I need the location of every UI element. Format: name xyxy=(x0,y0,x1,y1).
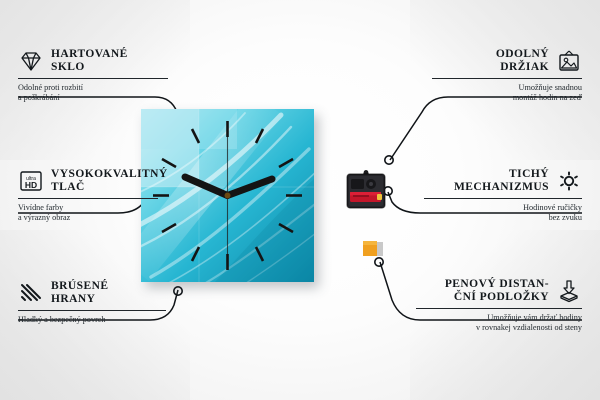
feature-title-line: VYSOKOKVALITNÝ xyxy=(51,168,168,181)
feature-divider xyxy=(18,78,168,79)
feature-header: BRÚSENÉ HRANY xyxy=(18,280,166,305)
clock-hands xyxy=(141,109,314,282)
feature-header: PENOVÝ DISTAN- ČNÍ PODLOŽKY xyxy=(416,278,582,303)
clock-center-cap xyxy=(225,193,231,199)
foam-distance-pad xyxy=(362,240,384,260)
feature-title-line: ČNÍ PODLOŽKY xyxy=(445,291,549,304)
wall-frame-hanger-icon xyxy=(556,49,582,73)
feature-header: ODOLNÝ DRŽIAK xyxy=(432,48,582,73)
feature-header: ultra HD VYSOKOKVALITNÝ TLAČ xyxy=(18,168,158,193)
feature-description: Odolné proti rozbití a poškrábání xyxy=(18,83,168,103)
feature-silent-mechanism: TICHÝ MECHANIZMUS Hodinové ručičky bez z… xyxy=(424,168,582,224)
feature-title: VYSOKOKVALITNÝ TLAČ xyxy=(51,168,168,193)
feature-title-line: MECHANIZMUS xyxy=(454,181,549,194)
feature-desc-line: Vivídne farby xyxy=(18,203,158,213)
feature-desc-line: a výrazný obraz xyxy=(18,213,158,223)
feature-desc-line: montáž hodin na zeď xyxy=(432,93,582,103)
feature-tempered-glass: HARTOVANÉ SKLO Odolné proti rozbití a po… xyxy=(18,48,168,104)
feature-title-line: BRÚSENÉ xyxy=(51,280,108,293)
feature-desc-line: Hladký a bezpečný povrch xyxy=(18,315,166,325)
wall-clock-product xyxy=(141,109,314,282)
feature-header: HARTOVANÉ SKLO xyxy=(18,48,168,73)
feature-hd-print: ultra HD VYSOKOKVALITNÝ TLAČ Vivídne far… xyxy=(18,168,158,224)
feature-desc-line: v rovnakej vzdialenosti od steny xyxy=(416,323,582,333)
diamond-icon xyxy=(18,49,44,73)
feature-description: Umožňuje vám držať hodiny v rovnakej vzd… xyxy=(416,313,582,333)
feature-title-line: ODOLNÝ xyxy=(496,48,549,61)
feature-desc-line: Hodinové ručičky xyxy=(424,203,582,213)
gear-icon xyxy=(556,169,582,193)
feature-divider xyxy=(18,310,166,311)
feature-title-line: DRŽIAK xyxy=(496,61,549,74)
hour-hand xyxy=(185,177,228,196)
feature-durable-holder: ODOLNÝ DRŽIAK Umožňuje snadnou montáž ho… xyxy=(432,48,582,104)
feature-description: Hladký a bezpečný povrch xyxy=(18,315,166,325)
feature-desc-line: a poškrábání xyxy=(18,93,168,103)
feature-desc-line: Odolné proti rozbití xyxy=(18,83,168,93)
feature-title-line: HRANY xyxy=(51,293,108,306)
feature-title-line: TICHÝ xyxy=(454,168,549,181)
svg-text:HD: HD xyxy=(25,180,37,190)
infographic-canvas: HARTOVANÉ SKLO Odolné proti rozbití a po… xyxy=(0,0,600,400)
node-holder xyxy=(385,156,393,164)
feature-desc-line: Umožňuje snadnou xyxy=(432,83,582,93)
ultra-hd-badge-icon: ultra HD xyxy=(18,169,44,193)
feature-title: PENOVÝ DISTAN- ČNÍ PODLOŽKY xyxy=(445,278,549,303)
arrow-onto-stack-icon xyxy=(556,279,582,303)
quartz-movement xyxy=(344,168,388,212)
feature-description: Vivídne farby a výrazný obraz xyxy=(18,203,158,223)
feature-title: ODOLNÝ DRŽIAK xyxy=(496,48,549,73)
feature-title-line: SKLO xyxy=(51,61,128,74)
feature-foam-spacers: PENOVÝ DISTAN- ČNÍ PODLOŽKY Umožňuje vám… xyxy=(416,278,582,334)
wire-holder xyxy=(390,97,582,160)
feature-ground-edges: BRÚSENÉ HRANY Hladký a bezpečný povrch xyxy=(18,280,166,325)
feature-divider xyxy=(432,78,582,79)
feature-desc-line: Umožňuje vám držať hodiny xyxy=(416,313,582,323)
feature-divider xyxy=(18,198,158,199)
feature-header: TICHÝ MECHANIZMUS xyxy=(424,168,582,193)
feature-title-line: TLAČ xyxy=(51,181,168,194)
feature-title: TICHÝ MECHANIZMUS xyxy=(454,168,549,193)
feature-title-line: PENOVÝ DISTAN- xyxy=(445,278,549,291)
feature-divider xyxy=(416,308,582,309)
feature-description: Hodinové ručičky bez zvuku xyxy=(424,203,582,223)
minute-hand xyxy=(228,179,273,196)
diagonal-stripes-icon xyxy=(18,281,44,305)
feature-desc-line: bez zvuku xyxy=(424,213,582,223)
feature-title: BRÚSENÉ HRANY xyxy=(51,280,108,305)
feature-description: Umožňuje snadnou montáž hodin na zeď xyxy=(432,83,582,103)
feature-title: HARTOVANÉ SKLO xyxy=(51,48,128,73)
feature-divider xyxy=(424,198,582,199)
feature-title-line: HARTOVANÉ xyxy=(51,48,128,61)
